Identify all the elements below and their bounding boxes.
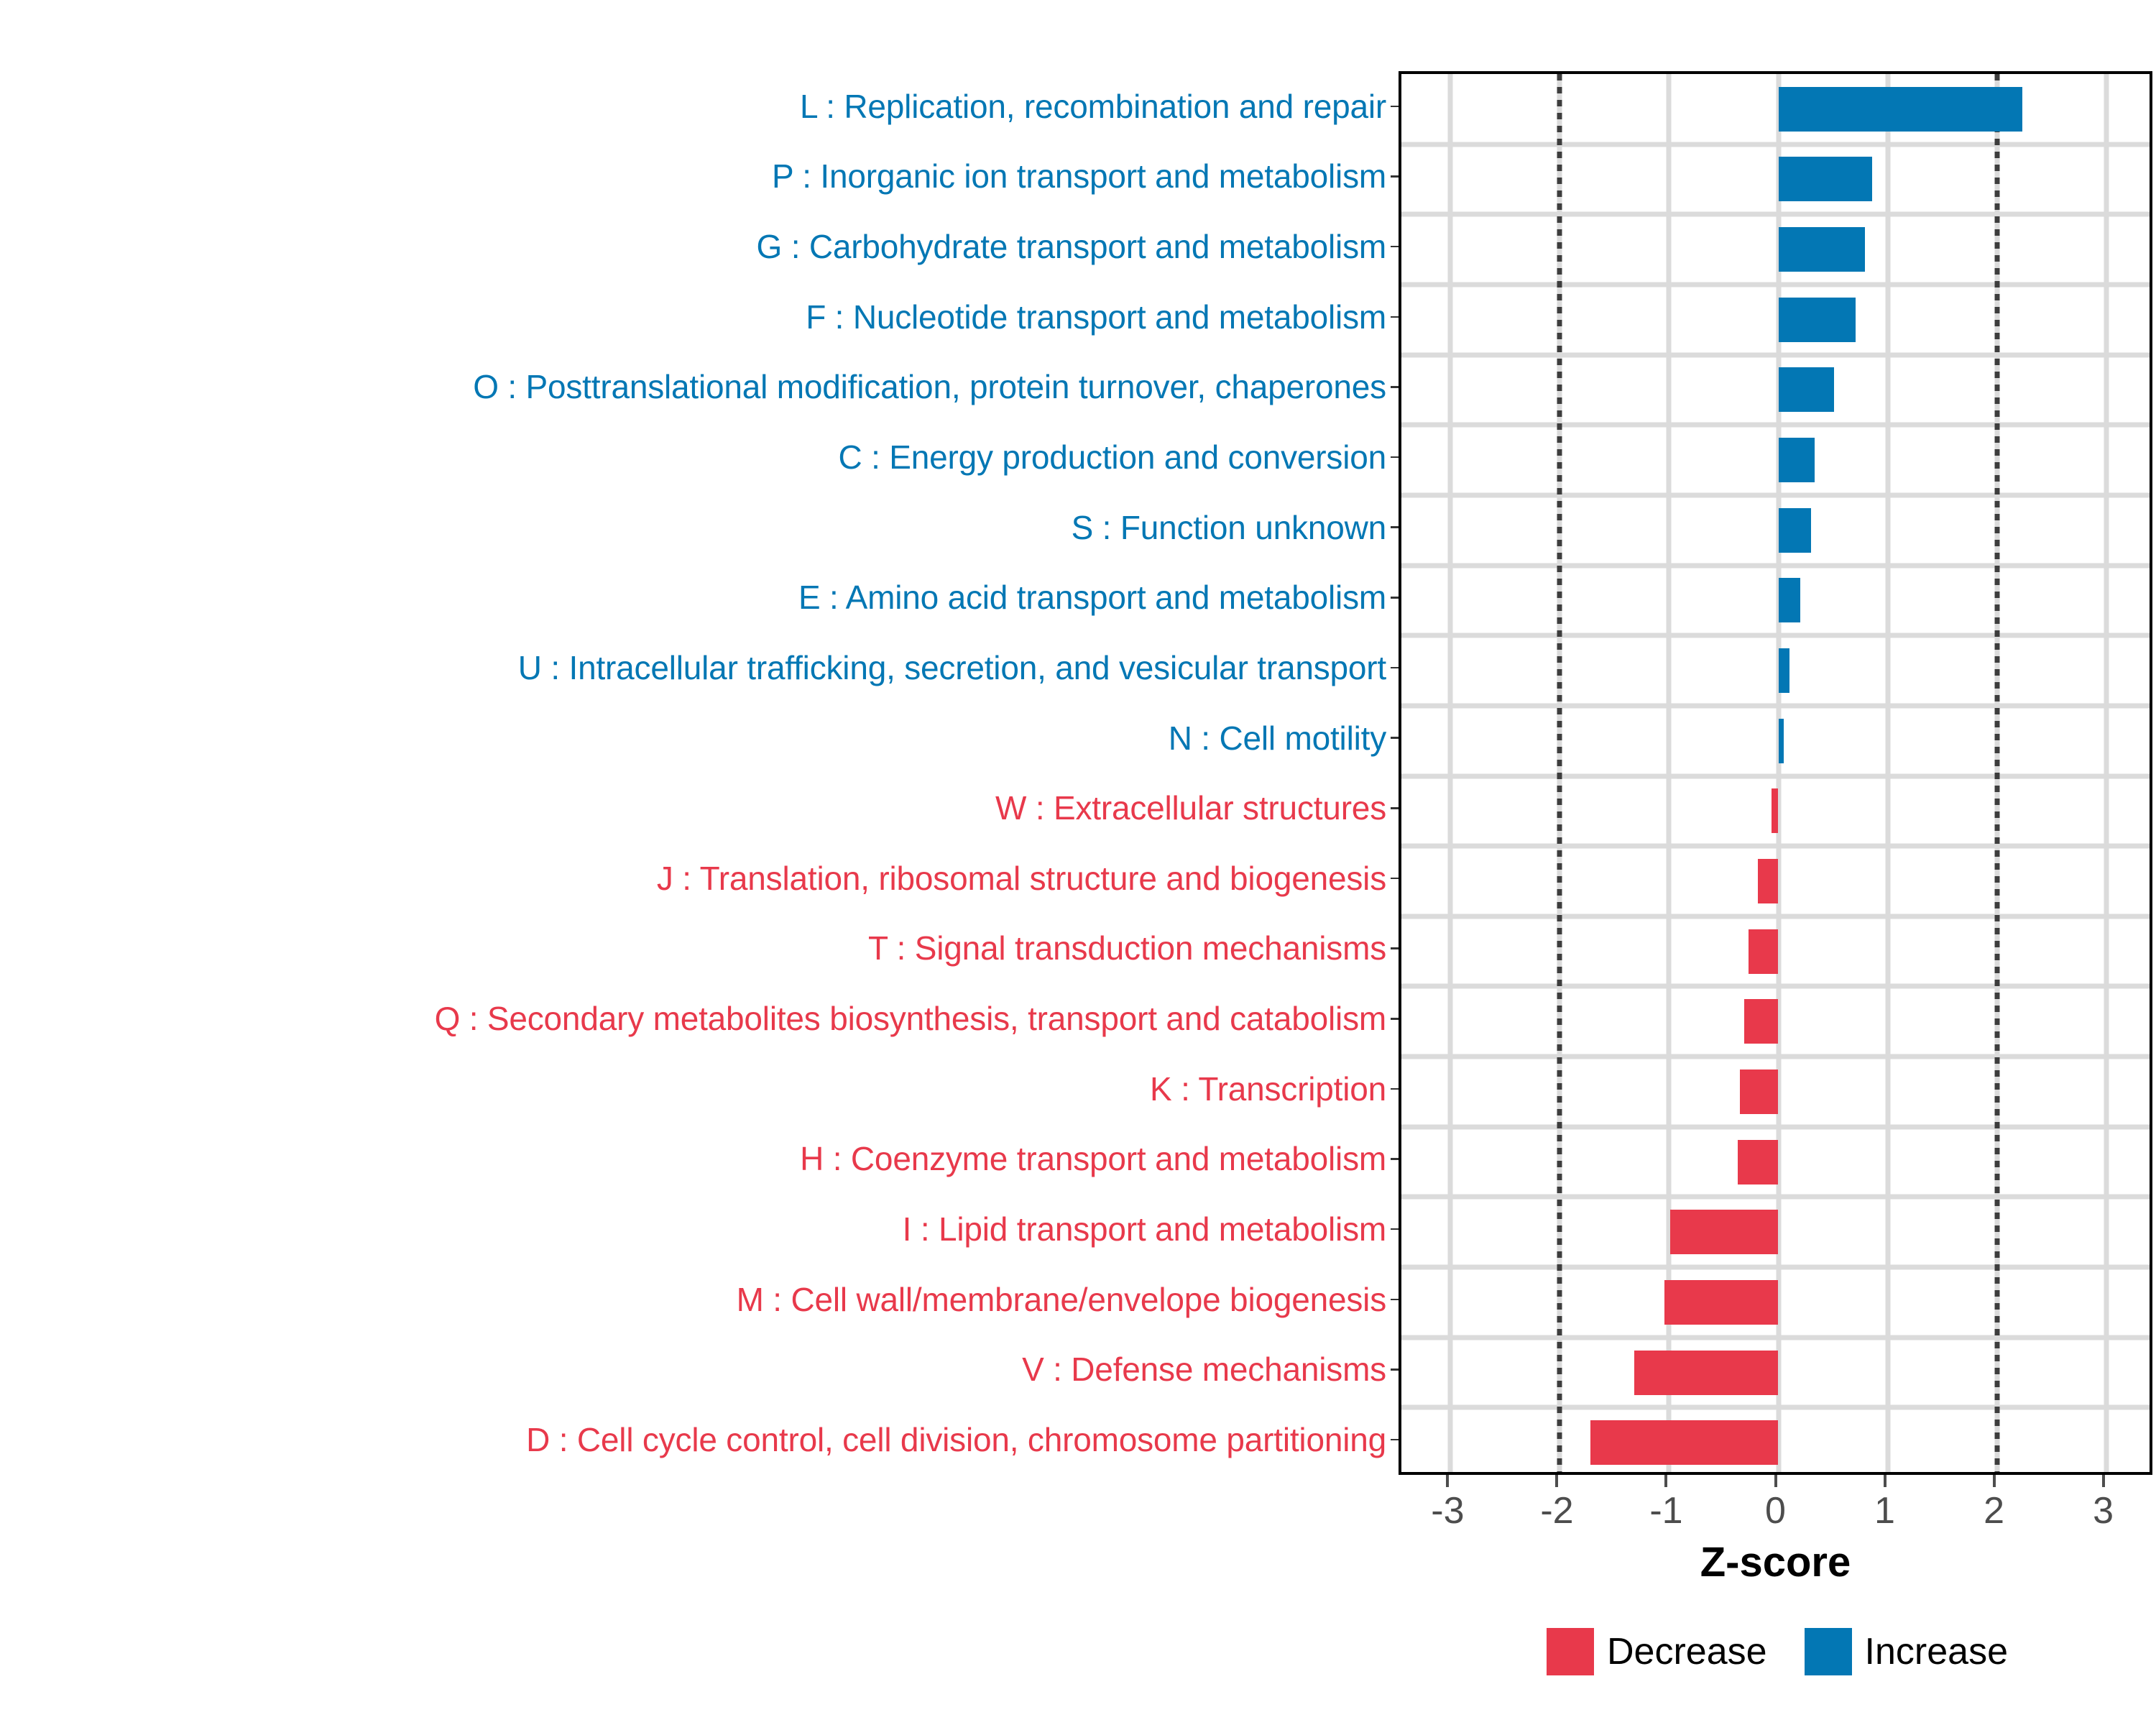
gridline-horizontal [1401, 1054, 2150, 1059]
y-axis-tick: G : Carbohydrate transport and metabolis… [0, 211, 1399, 282]
gridline-horizontal [1401, 1265, 2150, 1270]
y-axis-tick-mark [1391, 386, 1399, 388]
y-axis-tick-mark [1391, 1368, 1399, 1371]
y-axis-tick-mark [1391, 316, 1399, 318]
y-axis-tick: P : Inorganic ion transport and metaboli… [0, 142, 1399, 212]
bar [1744, 999, 1778, 1044]
bar [1664, 1280, 1778, 1325]
bar [1779, 508, 1812, 553]
y-axis-tick: U : Intracellular trafficking, secretion… [0, 632, 1399, 703]
x-axis-tick-label: 3 [2093, 1489, 2114, 1532]
y-axis-tick-mark [1391, 456, 1399, 459]
gridline-horizontal [1401, 1335, 2150, 1340]
y-axis-tick: M : Cell wall/membrane/envelope biogenes… [0, 1264, 1399, 1335]
y-axis-tick-mark [1391, 1088, 1399, 1090]
y-axis-tick-mark [1391, 807, 1399, 809]
x-axis-tick-label: -1 [1649, 1489, 1682, 1532]
y-axis-tick: I : Lipid transport and metabolism [0, 1194, 1399, 1264]
y-axis-tick-label: V : Defense mechanisms [1022, 1352, 1386, 1386]
legend-label: Increase [1865, 1630, 2008, 1673]
gridline-horizontal [1401, 914, 2150, 919]
gridline-horizontal [1401, 492, 2150, 497]
gridline-horizontal [1401, 212, 2150, 217]
y-axis-tick-mark [1391, 947, 1399, 949]
y-axis-tick-label: J : Translation, ribosomal structure and… [657, 861, 1386, 896]
y-axis-tick-label: T : Signal transduction mechanisms [868, 931, 1386, 965]
x-axis-tick-mark [1993, 1475, 1996, 1487]
y-axis-tick: C : Energy production and conversion [0, 422, 1399, 492]
y-axis-tick-mark [1391, 175, 1399, 178]
cog-zscore-bar-chart: L : Replication, recombination and repai… [0, 0, 2156, 1725]
y-axis-tick: E : Amino acid transport and metabolism [0, 563, 1399, 633]
y-axis-tick-label: E : Amino acid transport and metabolism [798, 580, 1386, 615]
y-axis-tick-mark [1391, 597, 1399, 599]
x-axis-tick-label: 0 [1765, 1489, 1786, 1532]
bar [1749, 929, 1778, 974]
y-axis-tick: V : Defense mechanisms [0, 1335, 1399, 1405]
y-axis-tick-label: S : Function unknown [1072, 510, 1386, 545]
gridline-horizontal [1401, 352, 2150, 357]
y-axis-tick: J : Translation, ribosomal structure and… [0, 843, 1399, 914]
y-axis-tick: S : Function unknown [0, 492, 1399, 563]
legend-label: Decrease [1607, 1630, 1767, 1673]
gridline-horizontal [1401, 423, 2150, 428]
bar [1634, 1351, 1779, 1395]
plot-panel [1399, 71, 2152, 1475]
y-axis-tick-label: I : Lipid transport and metabolism [903, 1212, 1386, 1246]
gridline-horizontal [1401, 984, 2150, 989]
gridline-horizontal [1401, 1195, 2150, 1200]
x-axis-tick-mark [1446, 1475, 1449, 1487]
gridline-horizontal [1401, 703, 2150, 708]
gridline-horizontal [1401, 773, 2150, 778]
y-axis-tick: T : Signal transduction mechanisms [0, 914, 1399, 984]
bar [1779, 578, 1800, 622]
y-axis-tick-label: D : Cell cycle control, cell division, c… [526, 1422, 1386, 1457]
y-axis-tick-mark [1391, 667, 1399, 669]
y-axis-tick: N : Cell motility [0, 703, 1399, 773]
y-axis-tick-label: P : Inorganic ion transport and metaboli… [772, 159, 1386, 193]
y-axis-tick-mark [1391, 106, 1399, 108]
gridline-horizontal [1401, 142, 2150, 147]
bar [1779, 87, 2022, 132]
y-axis-tick-label: N : Cell motility [1169, 721, 1386, 755]
y-axis-tick: H : Coenzyme transport and metabolism [0, 1124, 1399, 1195]
reference-line [1557, 74, 1562, 1472]
y-axis-tick-label: H : Coenzyme transport and metabolism [800, 1141, 1386, 1176]
y-axis-tick: K : Transcription [0, 1054, 1399, 1124]
legend-item[interactable]: Increase [1805, 1628, 2008, 1675]
gridline-horizontal [1401, 282, 2150, 287]
x-axis-tick-label: -2 [1540, 1489, 1573, 1532]
y-axis-tick-label: U : Intracellular trafficking, secretion… [518, 650, 1386, 685]
y-axis-tick-label: W : Extracellular structures [995, 791, 1386, 825]
y-axis-tick-label: K : Transcription [1150, 1072, 1386, 1106]
y-axis-tick-mark [1391, 737, 1399, 739]
y-axis-tick-mark [1391, 1018, 1399, 1020]
x-axis-tick-mark [1884, 1475, 1886, 1487]
x-axis-title: Z-score [1399, 1538, 2152, 1586]
y-axis-tick-mark [1391, 1228, 1399, 1230]
y-axis-tick: L : Replication, recombination and repai… [0, 71, 1399, 142]
bar [1779, 227, 1865, 272]
bar [1738, 1140, 1778, 1184]
legend-color-swatch [1805, 1628, 1852, 1675]
gridline-horizontal [1401, 633, 2150, 638]
y-axis-tick-label: G : Carbohydrate transport and metabolis… [757, 229, 1386, 264]
y-axis-tick-label: C : Energy production and conversion [839, 440, 1386, 474]
bar [1779, 367, 1835, 412]
y-axis-tick-label: M : Cell wall/membrane/envelope biogenes… [737, 1282, 1386, 1317]
x-axis-tick-label: 1 [1874, 1489, 1895, 1532]
y-axis-tick-label: Q : Secondary metabolites biosynthesis, … [435, 1001, 1386, 1036]
y-axis-tick-mark [1391, 246, 1399, 248]
y-axis-tick: D : Cell cycle control, cell division, c… [0, 1404, 1399, 1475]
x-axis-tick-mark [1774, 1475, 1777, 1487]
bar [1779, 298, 1856, 342]
y-axis-tick: F : Nucleotide transport and metabolism [0, 282, 1399, 352]
y-axis-tick-mark [1391, 1299, 1399, 1301]
bar [1670, 1210, 1779, 1254]
x-axis-tick-label: -3 [1431, 1489, 1464, 1532]
bar [1740, 1069, 1778, 1114]
bar [1779, 719, 1784, 763]
y-axis-tick-label: O : Posttranslational modification, prot… [473, 369, 1386, 404]
bar [1779, 157, 1873, 201]
y-axis-tick-label: F : Nucleotide transport and metabolism [806, 300, 1386, 334]
y-axis-category-labels: L : Replication, recombination and repai… [0, 71, 1399, 1475]
chart-legend: DecreaseIncrease [1399, 1628, 2156, 1675]
y-axis-tick-mark [1391, 1439, 1399, 1441]
gridline-horizontal [1401, 1124, 2150, 1129]
x-axis-tick-mark [2102, 1475, 2105, 1487]
bar [1779, 648, 1789, 693]
legend-color-swatch [1547, 1628, 1594, 1675]
y-axis-tick-mark [1391, 526, 1399, 528]
y-axis-tick: W : Extracellular structures [0, 773, 1399, 844]
bar [1590, 1420, 1778, 1465]
legend-item[interactable]: Decrease [1547, 1628, 1767, 1675]
gridline-horizontal [1401, 1405, 2150, 1410]
y-axis-tick: Q : Secondary metabolites biosynthesis, … [0, 983, 1399, 1054]
bar [1772, 788, 1778, 833]
x-axis-tick-mark [1664, 1475, 1667, 1487]
y-axis-tick-mark [1391, 878, 1399, 880]
y-axis-tick-mark [1391, 1158, 1399, 1160]
gridline-horizontal [1401, 844, 2150, 849]
bar [1779, 438, 1815, 482]
gridline-horizontal [1401, 563, 2150, 568]
x-axis-tick-mark [1555, 1475, 1558, 1487]
y-axis-tick-label: L : Replication, recombination and repai… [800, 89, 1386, 124]
bar [1758, 859, 1779, 903]
reference-line [1994, 74, 1999, 1472]
x-axis-tick-label: 2 [1984, 1489, 2004, 1532]
y-axis-tick: O : Posttranslational modification, prot… [0, 352, 1399, 423]
